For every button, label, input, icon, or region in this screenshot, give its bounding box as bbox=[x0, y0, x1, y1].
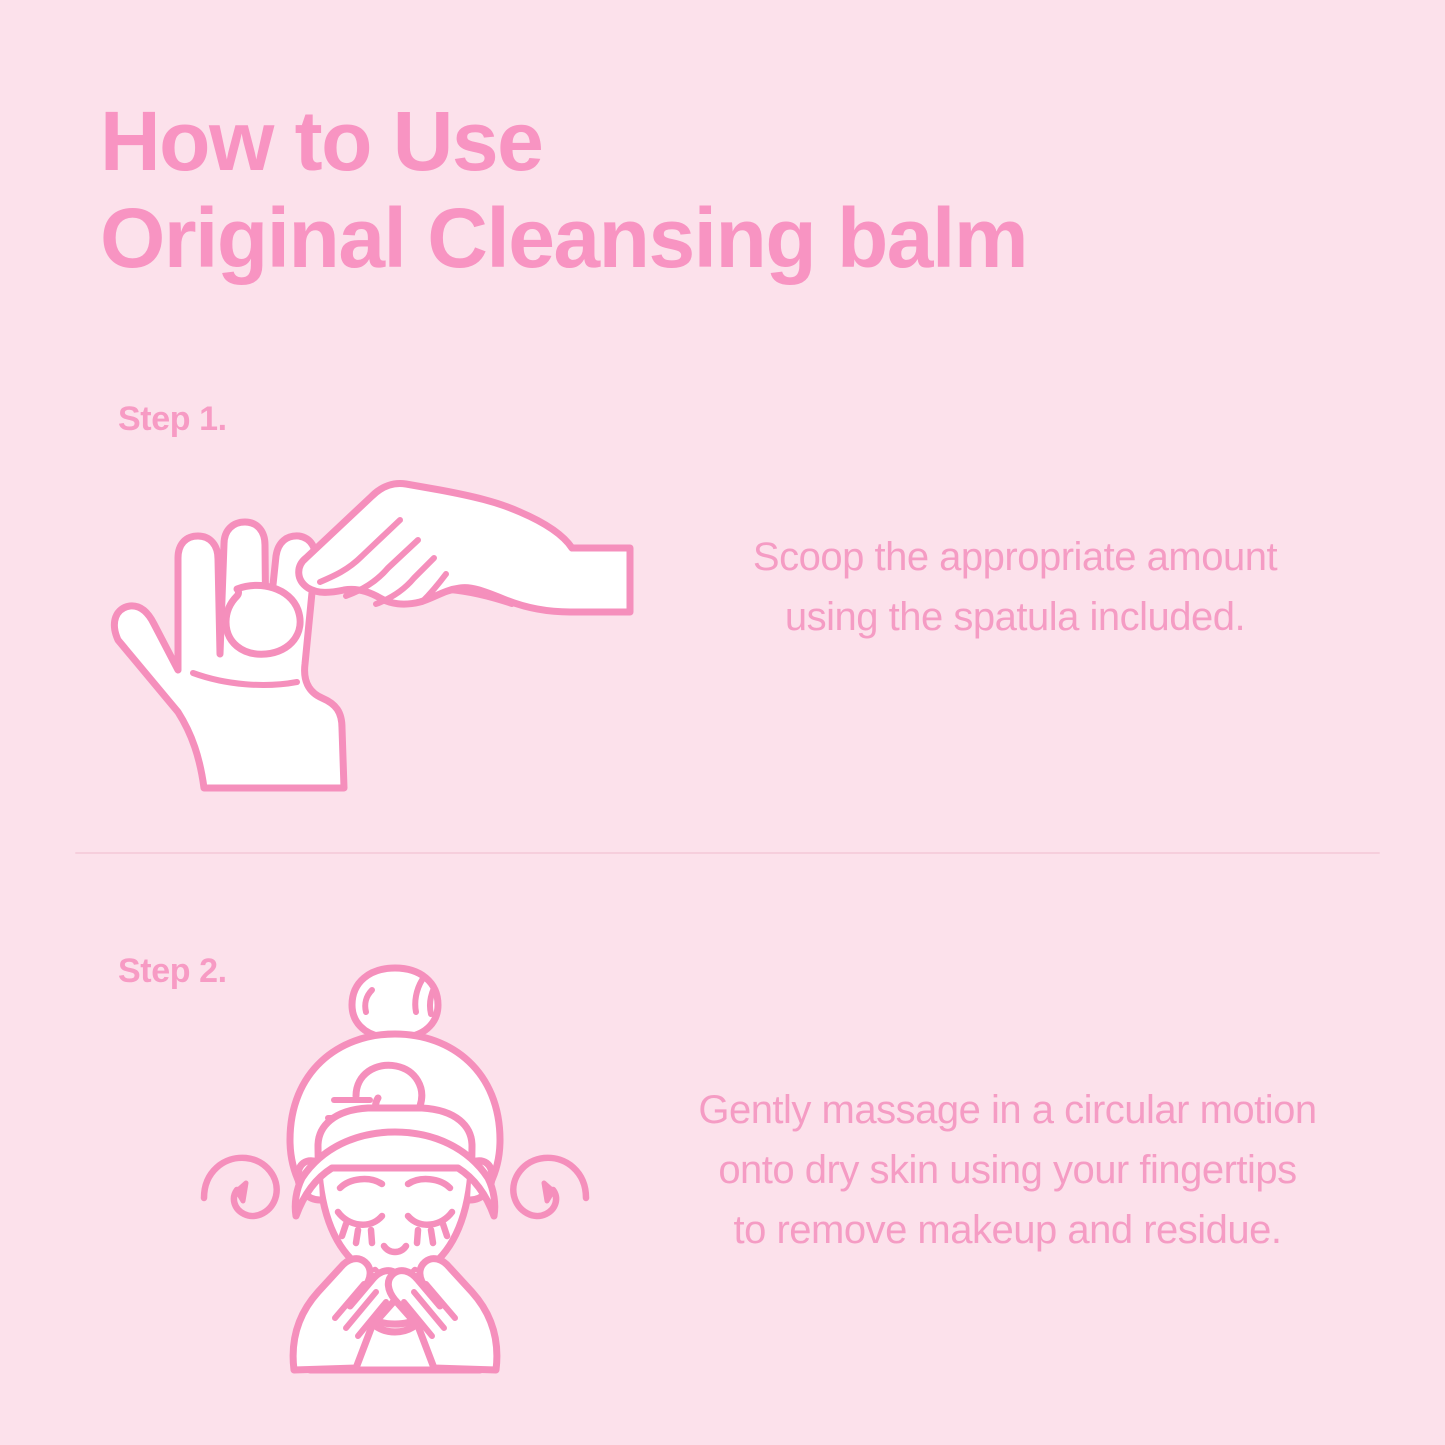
title-line-1: How to Use bbox=[100, 96, 1250, 187]
step-2-text-line-2: onto dry skin using your fingertips bbox=[650, 1140, 1365, 1200]
page-title: How to Use Original Cleansing balm bbox=[100, 96, 1250, 283]
balm-dollop bbox=[226, 585, 300, 654]
step-1-label: Step 1. bbox=[118, 400, 227, 439]
swirl-arrow-right bbox=[513, 1158, 586, 1216]
step-2-text-line-1: Gently massage in a circular motion bbox=[650, 1080, 1365, 1140]
title-line-2: Original Cleansing balm bbox=[100, 193, 1250, 284]
swirl-arrow-left bbox=[204, 1158, 277, 1216]
step-1-text-line-1: Scoop the appropriate amount bbox=[690, 527, 1340, 587]
step-1-text-line-2: using the spatula included. bbox=[690, 587, 1340, 647]
how-to-use-infographic: How to Use Original Cleansing balm Step … bbox=[0, 0, 1445, 1445]
section-divider bbox=[75, 852, 1380, 854]
step-2-text-line-3: to remove makeup and residue. bbox=[650, 1200, 1365, 1260]
hands-scooping-balm-icon bbox=[100, 440, 660, 790]
step-1-description: Scoop the appropriate amount using the s… bbox=[690, 527, 1340, 647]
woman-massaging-face-icon bbox=[190, 950, 600, 1370]
step-2-description: Gently massage in a circular motion onto… bbox=[650, 1080, 1365, 1260]
